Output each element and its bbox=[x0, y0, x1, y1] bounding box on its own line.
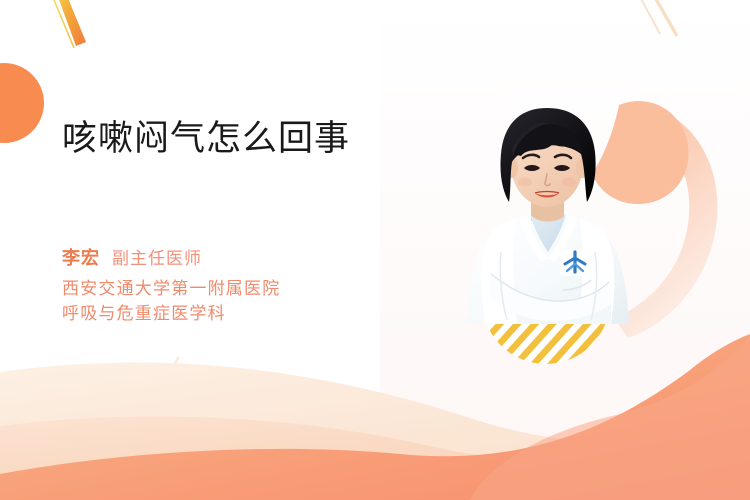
doctor-department: 呼吸与危重症医学科 bbox=[62, 302, 280, 328]
doctor-hospital: 西安交通大学第一附属医院 bbox=[62, 277, 280, 303]
page-title: 咳嗽闷气怎么回事 bbox=[62, 118, 350, 160]
doctor-info-block: 李宏副主任医师 西安交通大学第一附属医院 呼吸与危重症医学科 bbox=[62, 248, 280, 328]
doctor-professional-title: 副主任医师 bbox=[112, 249, 202, 269]
doctor-name: 李宏 bbox=[62, 248, 100, 269]
doctor-info-card: 咳嗽闷气怎么回事 李宏副主任医师 西安交通大学第一附属医院 呼吸与危重症医学科 bbox=[0, 0, 750, 500]
card-content: 咳嗽闷气怎么回事 李宏副主任医师 西安交通大学第一附属医院 呼吸与危重症医学科 bbox=[0, 0, 750, 500]
doctor-name-row: 李宏副主任医师 bbox=[62, 248, 280, 271]
